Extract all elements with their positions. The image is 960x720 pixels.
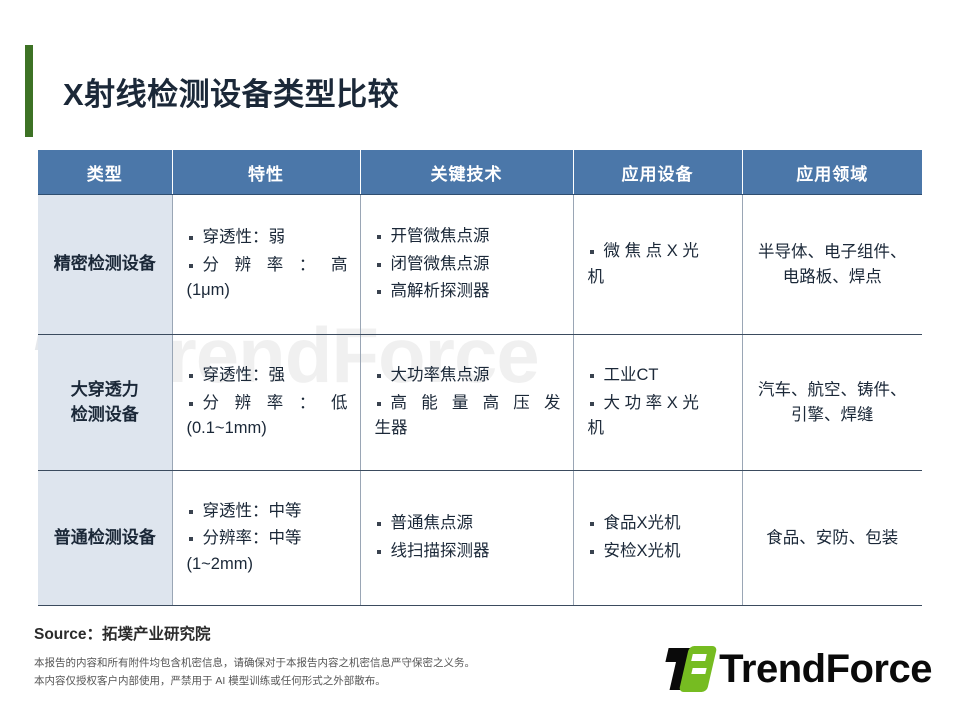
list-item: 大 功 率 X 光 机 xyxy=(588,391,730,442)
table-header-row: 类型 特性 关键技术 应用设备 应用领域 xyxy=(38,150,922,195)
cell-key-tech: 开管微焦点源 闭管微焦点源 高解析探测器 xyxy=(360,195,573,335)
cell-type-line: 检测设备 xyxy=(42,403,168,428)
list-item: 普通焦点源 xyxy=(375,511,561,537)
list-item: 微 焦 点 X 光 机 xyxy=(588,239,730,290)
list-item: 安检X光机 xyxy=(588,539,730,565)
list-item: 大功率焦点源 xyxy=(375,363,561,389)
cell-devices: 微 焦 点 X 光 机 xyxy=(573,195,742,335)
column-header-fields: 应用领域 xyxy=(742,150,922,195)
cell-characteristics: 穿透性：弱 分辨率：高 (1μm) xyxy=(172,195,360,335)
cell-fields: 食品、安防、包装 xyxy=(742,471,922,606)
list-item: 穿透性：中等 xyxy=(187,499,348,525)
trendforce-logo: TrendForce xyxy=(667,646,932,692)
table-row: 精密检测设备 穿透性：弱 分辨率：高 (1μm) 开管微焦点源 闭管微焦点源 xyxy=(38,195,922,335)
cell-type: 精密检测设备 xyxy=(38,195,172,335)
list-item-line: (1μm) xyxy=(187,278,348,304)
comparison-table: 类型 特性 关键技术 应用设备 应用领域 精密检测设备 穿透性：弱 分辨率：高 … xyxy=(38,150,922,606)
column-header-type: 类型 xyxy=(38,150,172,195)
trendforce-logo-mark-icon xyxy=(667,646,713,692)
cell-fields: 汽车、航空、铸件、引擎、焊缝 xyxy=(742,335,922,471)
disclaimer-line-2: 本内容仅授权客户内部使用，严禁用于 AI 模型训练或任何形式之外部散布。 xyxy=(34,672,634,690)
list-item: 工业CT xyxy=(588,363,730,389)
disclaimer: 本报告的内容和所有附件均包含机密信息，请确保对于本报告内容之机密信息严守保密之义… xyxy=(34,654,634,691)
page-title: X射线检测设备类型比较 xyxy=(63,69,399,114)
cell-devices: 工业CT 大 功 率 X 光 机 xyxy=(573,335,742,471)
list-item-line: 机 xyxy=(588,416,730,442)
list-item: 线扫描探测器 xyxy=(375,539,561,565)
title-accent-bar xyxy=(25,45,33,137)
cell-fields: 半导体、电子组件、电路板、焊点 xyxy=(742,195,922,335)
list-item: 分辨率：低 (0.1~1mm) xyxy=(187,391,348,442)
column-header-characteristics: 特性 xyxy=(172,150,360,195)
column-header-key-tech: 关键技术 xyxy=(360,150,573,195)
list-item-line: 生器 xyxy=(375,416,561,442)
table-row: 大穿透力 检测设备 穿透性：强 分辨率：低 (0.1~1mm) 大功率焦点源 xyxy=(38,335,922,471)
list-item: 分辨率：中等 (1~2mm) xyxy=(187,526,348,577)
cell-type: 大穿透力 检测设备 xyxy=(38,335,172,471)
list-item: 高能量高压发 生器 xyxy=(375,391,561,442)
cell-type: 普通检测设备 xyxy=(38,471,172,606)
disclaimer-line-1: 本报告的内容和所有附件均包含机密信息，请确保对于本报告内容之机密信息严守保密之义… xyxy=(34,654,634,672)
list-item: 穿透性：强 xyxy=(187,363,348,389)
trendforce-logo-text: TrendForce xyxy=(719,647,932,692)
list-item: 闭管微焦点源 xyxy=(375,252,561,278)
list-item-line: 大 功 率 X 光 xyxy=(604,391,730,417)
list-item: 高解析探测器 xyxy=(375,279,561,305)
list-item-line: 分辨率：中等 xyxy=(203,526,348,552)
footer: Source：拓墣产业研究院 本报告的内容和所有附件均包含机密信息，请确保对于本… xyxy=(34,622,634,691)
cell-devices: 食品X光机 安检X光机 xyxy=(573,471,742,606)
cell-characteristics: 穿透性：强 分辨率：低 (0.1~1mm) xyxy=(172,335,360,471)
source-label: Source：拓墣产业研究院 xyxy=(34,622,634,644)
list-item: 开管微焦点源 xyxy=(375,224,561,250)
column-header-devices: 应用设备 xyxy=(573,150,742,195)
list-item-line: 分辨率：低 xyxy=(203,391,348,417)
comparison-table-wrapper: 类型 特性 关键技术 应用设备 应用领域 精密检测设备 穿透性：弱 分辨率：高 … xyxy=(38,150,922,606)
cell-key-tech: 大功率焦点源 高能量高压发 生器 xyxy=(360,335,573,471)
list-item: 食品X光机 xyxy=(588,511,730,537)
list-item: 穿透性：弱 xyxy=(187,225,348,251)
list-item-line: 微 焦 点 X 光 xyxy=(604,239,730,265)
cell-characteristics: 穿透性：中等 分辨率：中等 (1~2mm) xyxy=(172,471,360,606)
list-item-line: 高能量高压发 xyxy=(391,391,561,417)
list-item: 分辨率：高 (1μm) xyxy=(187,253,348,304)
table-row: 普通检测设备 穿透性：中等 分辨率：中等 (1~2mm) 普通焦点源 线扫描探测… xyxy=(38,471,922,606)
list-item-line: (0.1~1mm) xyxy=(187,416,348,442)
cell-key-tech: 普通焦点源 线扫描探测器 xyxy=(360,471,573,606)
cell-type-line: 大穿透力 xyxy=(42,378,168,403)
slide-title-block: X射线检测设备类型比较 xyxy=(25,45,399,137)
list-item-line: (1~2mm) xyxy=(187,552,348,578)
list-item-line: 分辨率：高 xyxy=(203,253,348,279)
list-item-line: 机 xyxy=(588,265,730,291)
